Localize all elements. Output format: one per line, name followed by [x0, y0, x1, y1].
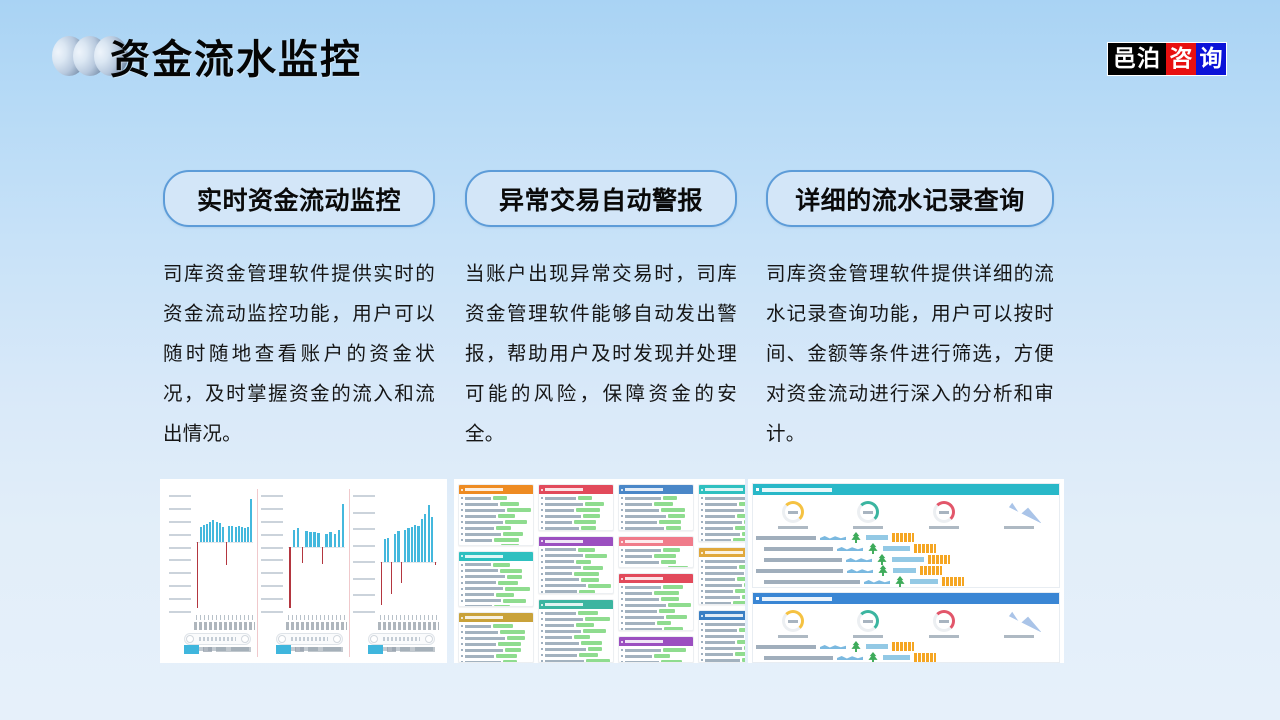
row-bullet-icon — [461, 497, 463, 499]
row-bullet-icon — [701, 635, 703, 637]
row-bullet-icon — [621, 503, 623, 505]
orange-bar-chart-icon — [928, 555, 950, 564]
board-card-row[interactable] — [621, 654, 691, 658]
row-bullet-icon — [461, 564, 463, 566]
board-card-row[interactable] — [701, 502, 745, 506]
board-card-row[interactable] — [461, 538, 531, 542]
board-card-row[interactable] — [461, 648, 531, 652]
board-card-header — [459, 485, 533, 494]
board-card-row[interactable] — [541, 496, 611, 500]
board-card-row[interactable] — [541, 590, 611, 594]
bar-positive — [338, 530, 341, 547]
board-card-row[interactable] — [461, 563, 531, 567]
trend-line-icon — [892, 557, 924, 562]
board-card-row[interactable] — [621, 597, 691, 601]
board-card-row[interactable] — [461, 654, 531, 658]
board-card-row[interactable] — [461, 496, 531, 500]
board-card-row[interactable] — [701, 634, 745, 638]
board-card-row[interactable] — [621, 502, 691, 506]
chart-panel-1 — [166, 489, 258, 657]
board-card-row[interactable] — [621, 548, 691, 552]
board-card-row[interactable] — [621, 508, 691, 512]
bar-positive — [247, 527, 249, 542]
bar-positive — [313, 532, 316, 548]
gauge-row — [753, 495, 1059, 531]
orange-bar-chart-icon — [892, 642, 914, 651]
orange-bar-chart-icon — [920, 566, 942, 575]
row-text — [625, 515, 666, 518]
board-card-row[interactable] — [541, 578, 611, 582]
row-text — [705, 539, 731, 542]
row-tag — [588, 584, 611, 588]
row-bullet-icon — [541, 654, 543, 656]
board-card-row[interactable] — [701, 538, 745, 542]
row-tag — [496, 526, 511, 530]
row-tag — [585, 502, 604, 506]
row-tag — [661, 508, 685, 512]
board-card-row[interactable] — [701, 559, 745, 563]
row-text — [545, 527, 579, 530]
row-text — [625, 622, 655, 625]
board-column-4 — [698, 484, 745, 663]
gauge-label — [778, 526, 808, 529]
row-tag — [739, 628, 745, 632]
board-card-row[interactable] — [541, 560, 611, 564]
board-card-row[interactable] — [461, 581, 531, 585]
board-card-row[interactable] — [621, 609, 691, 613]
board-card-header — [539, 485, 613, 494]
row-text — [545, 618, 583, 621]
sparkline-icon — [820, 535, 846, 540]
board-card-row[interactable] — [701, 589, 745, 593]
board-card-row[interactable] — [701, 601, 745, 605]
board-card-row[interactable] — [701, 532, 745, 536]
row-text — [465, 625, 491, 628]
board-card-row[interactable] — [701, 646, 745, 650]
board-card-row[interactable] — [621, 560, 691, 564]
board-card[interactable] — [458, 484, 534, 546]
legend-swatch — [276, 645, 291, 654]
row-bullet-icon — [701, 584, 703, 586]
gauge-value — [863, 507, 873, 517]
gauge-4 — [996, 501, 1042, 529]
row-tag — [578, 496, 592, 500]
bar-positive — [212, 520, 214, 542]
board-card-row[interactable] — [541, 526, 611, 530]
row-bullet-icon — [541, 509, 543, 511]
row-tag — [576, 508, 600, 512]
row-tag — [585, 554, 607, 558]
row-text — [465, 631, 498, 634]
board-card[interactable] — [618, 484, 694, 531]
board-card-row[interactable] — [541, 548, 611, 552]
dashboard-row[interactable] — [756, 653, 1056, 662]
board-card-header — [619, 485, 693, 494]
bar-negative — [391, 562, 392, 594]
gauge-value — [863, 616, 873, 626]
row-tag — [657, 621, 671, 625]
feature-body-2: 当账户出现异常交易时，司库资金管理软件能够自动发出警报，帮助用户及时发现并处理可… — [465, 254, 737, 454]
row-text — [625, 497, 661, 500]
feature-heading-label-2: 异常交易自动警报 — [499, 181, 703, 217]
board-card-row[interactable] — [541, 514, 611, 518]
row-text — [545, 503, 583, 506]
row-bullet-icon — [461, 521, 463, 523]
bar-positive — [428, 505, 430, 562]
row-tag — [663, 548, 680, 552]
board-card-row[interactable] — [541, 629, 611, 633]
board-card-row[interactable] — [461, 569, 531, 573]
board-card-row[interactable] — [621, 621, 691, 625]
page-title: 资金流水监控 — [110, 27, 362, 85]
row-description — [756, 569, 843, 573]
row-text — [465, 515, 496, 518]
row-text — [625, 521, 657, 524]
row-tag — [493, 496, 507, 500]
board-card-row[interactable] — [461, 575, 531, 579]
chart-legend[interactable] — [184, 643, 251, 655]
bar-positive — [424, 514, 426, 563]
board-column-2 — [538, 484, 614, 663]
board-card-row[interactable] — [461, 532, 531, 536]
board-card-row[interactable] — [701, 583, 745, 587]
gauge-ring — [782, 501, 804, 523]
board-card-row[interactable] — [701, 565, 745, 569]
feature-heading-pill-3[interactable]: 详细的流水记录查询 — [766, 170, 1054, 227]
feature-body-3: 司库资金管理软件提供详细的流水记录查询功能，用户可以按时间、金额等条件进行筛选，… — [766, 254, 1054, 454]
board-card[interactable] — [538, 484, 614, 531]
board-card-row[interactable] — [461, 599, 531, 603]
row-bullet-icon — [541, 624, 543, 626]
row-text — [705, 503, 737, 506]
row-tag — [494, 605, 510, 607]
row-tag — [496, 593, 514, 597]
board-card-row[interactable] — [461, 642, 531, 646]
board-card-row[interactable] — [701, 628, 745, 632]
row-bullet-icon — [461, 588, 463, 590]
row-tag — [493, 624, 513, 628]
row-text — [465, 637, 505, 640]
board-card-row[interactable] — [701, 526, 745, 530]
board-card-row[interactable] — [701, 640, 745, 644]
board-card-row[interactable] — [541, 647, 611, 651]
board-card-row[interactable] — [701, 508, 745, 512]
row-tag — [668, 566, 688, 568]
row-text — [705, 602, 731, 605]
board-card-row[interactable] — [541, 572, 611, 576]
board-card-row[interactable] — [541, 659, 611, 663]
bar-positive — [238, 526, 240, 543]
board-card-row[interactable] — [541, 623, 611, 627]
row-text — [625, 610, 657, 613]
legend-label — [295, 647, 304, 652]
row-text — [625, 586, 661, 589]
board-card-row[interactable] — [461, 630, 531, 634]
board-card[interactable] — [698, 547, 745, 605]
bar-positive — [209, 522, 211, 543]
board-card[interactable] — [538, 536, 614, 594]
row-tag — [579, 590, 595, 594]
row-bullet-icon — [461, 637, 463, 639]
gauge-label — [1004, 635, 1034, 638]
board-card-row[interactable] — [621, 526, 691, 530]
zero-line — [196, 542, 253, 543]
row-bullet-icon — [621, 628, 623, 630]
bar-negative — [302, 547, 303, 563]
board-card-row[interactable] — [621, 615, 691, 619]
row-text — [465, 587, 503, 590]
board-card-row[interactable] — [701, 571, 745, 575]
board-card-row[interactable] — [621, 554, 691, 558]
chart-legend[interactable] — [368, 643, 435, 655]
row-bullet-icon — [541, 515, 543, 517]
row-text — [545, 630, 581, 633]
legend-label — [203, 647, 212, 652]
row-bullet-icon — [461, 509, 463, 511]
board-card-row[interactable] — [461, 502, 531, 506]
row-text — [465, 545, 499, 546]
board-card-row[interactable] — [541, 611, 611, 615]
bar-positive — [297, 528, 300, 547]
row-tag — [583, 514, 600, 518]
y-axis-labels — [169, 495, 195, 613]
board-card-row[interactable] — [621, 660, 691, 663]
gauge-ring — [857, 501, 879, 523]
row-text — [705, 641, 735, 644]
dashboard-row[interactable] — [756, 577, 1056, 586]
row-tag — [500, 569, 522, 573]
board-card[interactable] — [458, 551, 534, 607]
trend-line-icon — [910, 579, 938, 584]
board-card-row[interactable] — [621, 627, 691, 631]
row-bullet-icon — [461, 539, 463, 541]
row-bullet-icon — [541, 521, 543, 523]
board-card-row[interactable] — [621, 591, 691, 595]
board-card-row[interactable] — [541, 520, 611, 524]
row-tag — [578, 548, 595, 552]
board-card-row[interactable] — [461, 544, 531, 546]
dashboard-row[interactable] — [756, 533, 1056, 542]
row-text — [705, 629, 737, 632]
row-text — [625, 503, 652, 506]
board-card-header — [459, 613, 533, 622]
board-card[interactable] — [538, 599, 614, 663]
chart-legend[interactable] — [276, 643, 343, 655]
board-card-row[interactable] — [621, 648, 691, 652]
row-bullet-icon — [461, 582, 463, 584]
row-text — [545, 566, 581, 569]
feature-column-2: 异常交易自动警报 当账户出现异常交易时，司库资金管理软件能够自动发出警报，帮助用… — [465, 170, 737, 454]
row-bullet-icon — [461, 661, 463, 663]
row-text — [465, 497, 491, 500]
tree-chart-icon — [867, 543, 879, 554]
dashboard-row[interactable] — [756, 566, 1056, 575]
row-bullet-icon — [461, 503, 463, 505]
board-card-row[interactable] — [541, 635, 611, 639]
row-bullet-icon — [621, 610, 623, 612]
row-tag — [503, 532, 523, 536]
row-bullet-icon — [701, 566, 703, 568]
row-bullet-icon — [461, 649, 463, 651]
orange-bar-chart-icon — [942, 577, 964, 586]
row-tag — [574, 520, 596, 524]
board-card-row[interactable] — [621, 496, 691, 500]
row-bullet-icon — [621, 655, 623, 657]
board-card-row[interactable] — [461, 514, 531, 518]
row-tag — [574, 635, 590, 639]
board-card-row[interactable] — [621, 603, 691, 607]
board-card[interactable] — [618, 573, 694, 631]
row-tag — [744, 646, 745, 650]
board-card-row[interactable] — [701, 652, 745, 656]
board-card-row[interactable] — [461, 526, 531, 530]
board-card-row[interactable] — [461, 593, 531, 597]
thumbnail-cash-flow-bar-charts[interactable] — [160, 479, 447, 663]
board-card-row[interactable] — [621, 585, 691, 589]
row-bullet-icon — [701, 602, 703, 604]
board-card-row[interactable] — [461, 605, 531, 607]
board-card-row[interactable] — [461, 624, 531, 628]
row-tag — [661, 660, 682, 663]
board-card-row[interactable] — [621, 566, 691, 568]
board-card-row[interactable] — [701, 496, 745, 500]
board-card[interactable] — [618, 536, 694, 568]
board-card-row[interactable] — [701, 514, 745, 518]
row-bullet-icon — [541, 591, 543, 593]
board-card-row[interactable] — [701, 520, 745, 524]
board-card[interactable] — [698, 610, 745, 663]
row-tag — [733, 538, 745, 542]
row-bullet-icon — [461, 600, 463, 602]
row-text — [705, 647, 742, 650]
dashboard-panel-2 — [752, 592, 1060, 663]
board-card-row[interactable] — [541, 641, 611, 645]
row-bullet-icon — [461, 606, 463, 607]
board-card-header — [539, 600, 613, 609]
dashboard-panel-header — [753, 593, 1059, 604]
board-card[interactable] — [458, 612, 534, 663]
row-bullet-icon — [701, 659, 703, 661]
row-bullet-icon — [621, 521, 623, 523]
board-card-rows — [619, 646, 693, 663]
board-card[interactable] — [698, 484, 745, 542]
legend-swatch — [368, 645, 383, 654]
board-card-row[interactable] — [541, 554, 611, 558]
dashboard-row[interactable] — [756, 555, 1056, 564]
board-card-row[interactable] — [461, 636, 531, 640]
row-tag — [664, 627, 683, 631]
row-tag — [576, 623, 594, 627]
board-card-rows — [619, 546, 693, 568]
board-card-row[interactable] — [541, 617, 611, 621]
dashboard-row[interactable] — [756, 544, 1056, 553]
bar-negative — [226, 542, 227, 564]
trend-line-icon — [866, 535, 888, 540]
row-text — [625, 509, 659, 512]
row-bullet-icon — [701, 653, 703, 655]
board-card-row[interactable] — [541, 566, 611, 570]
row-text — [545, 509, 574, 512]
board-card-row[interactable] — [621, 514, 691, 518]
row-text — [705, 533, 740, 536]
feature-column-3: 详细的流水记录查询 司库资金管理软件提供详细的流水记录查询功能，用户可以按时间、… — [766, 170, 1054, 454]
row-text — [545, 624, 574, 627]
board-card-row[interactable] — [621, 520, 691, 524]
bar-positive — [325, 534, 328, 548]
board-card[interactable] — [618, 636, 694, 663]
row-bullet-icon — [701, 521, 703, 523]
row-tag — [585, 617, 610, 621]
board-card-row[interactable] — [461, 520, 531, 524]
bar-positive — [231, 526, 233, 542]
feature-heading-pill-1[interactable]: 实时资金流动监控 — [163, 170, 435, 227]
board-card-header — [539, 537, 613, 546]
row-tag — [737, 577, 745, 581]
row-text — [465, 533, 501, 536]
bar-negative — [381, 562, 382, 604]
board-card-header — [459, 552, 533, 561]
board-card-row[interactable] — [701, 577, 745, 581]
board-card-row[interactable] — [541, 653, 611, 657]
row-text — [465, 527, 494, 530]
row-description — [764, 580, 860, 584]
row-tag — [505, 520, 527, 524]
board-card-row[interactable] — [541, 508, 611, 512]
row-bullet-icon — [461, 545, 463, 546]
board-card-rows — [539, 609, 613, 663]
row-bullet-icon — [541, 585, 543, 587]
row-tag — [661, 597, 679, 601]
row-text — [625, 655, 652, 658]
orange-bar-chart-icon — [914, 544, 936, 553]
row-text — [625, 616, 664, 619]
row-tag — [733, 601, 745, 605]
board-card-row[interactable] — [701, 595, 745, 599]
thumbnail-task-board-cards[interactable] — [454, 479, 745, 663]
row-text — [465, 649, 503, 652]
row-tag — [737, 640, 745, 644]
row-text — [465, 643, 496, 646]
board-card-header — [619, 637, 693, 646]
feature-heading-label-3: 详细的流水记录查询 — [795, 181, 1025, 217]
row-bullet-icon — [541, 549, 543, 551]
tree-chart-icon — [863, 587, 875, 588]
board-card-row[interactable] — [541, 584, 611, 588]
thumbnail-treasury-dashboard[interactable] — [748, 479, 1064, 663]
feature-heading-pill-2[interactable]: 异常交易自动警报 — [465, 170, 737, 227]
row-tag — [579, 653, 598, 657]
row-tag — [659, 520, 681, 524]
board-card-row[interactable] — [541, 502, 611, 506]
board-card-rows — [619, 583, 693, 631]
zero-line — [288, 547, 345, 548]
row-tag — [500, 630, 525, 634]
board-card-rows — [459, 622, 533, 663]
row-bullet-icon — [621, 515, 623, 517]
board-card-row[interactable] — [461, 660, 531, 663]
gauge-2 — [845, 610, 891, 638]
board-card-row[interactable] — [461, 587, 531, 591]
dashboard-report — [752, 483, 1060, 663]
chart-panel-3 — [350, 489, 441, 657]
board-card-row[interactable] — [701, 622, 745, 626]
board-card-rows — [699, 557, 745, 605]
trend-line-icon — [893, 568, 916, 573]
board-card-row[interactable] — [461, 508, 531, 512]
gauge-label — [853, 635, 883, 638]
dashboard-row[interactable] — [756, 642, 1056, 651]
board-card-row[interactable] — [701, 658, 745, 662]
